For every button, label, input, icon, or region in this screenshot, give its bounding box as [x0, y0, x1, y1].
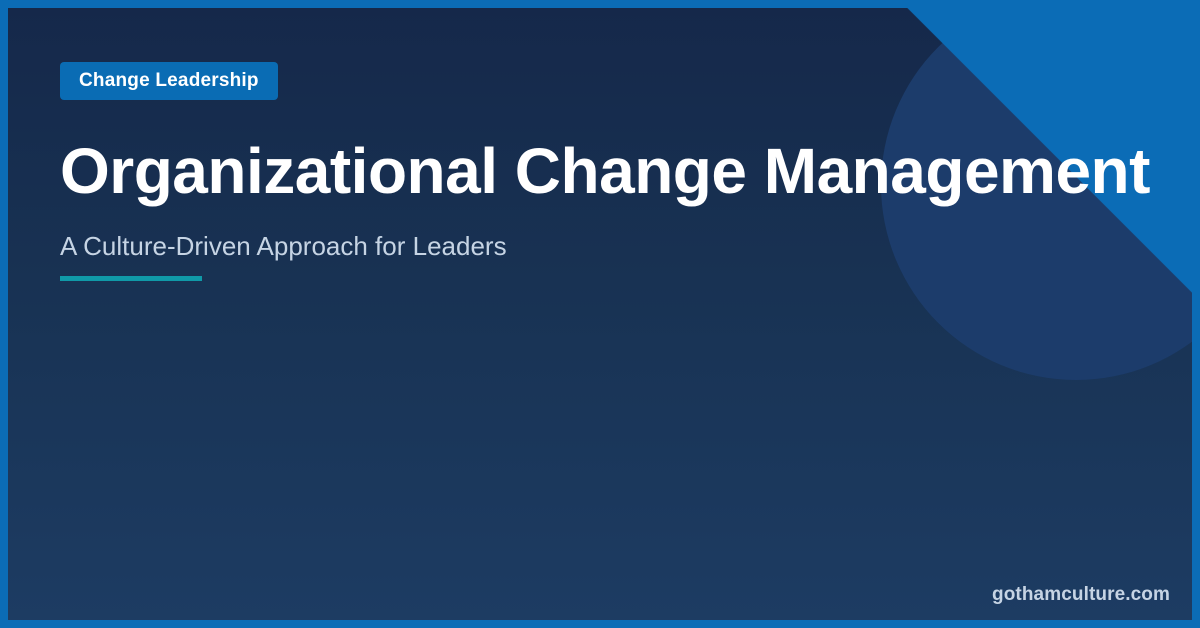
page-title: Organizational Change Management — [60, 138, 1060, 205]
page-subtitle: A Culture-Driven Approach for Leaders — [60, 231, 1060, 262]
teal-accent-bar — [60, 276, 202, 281]
hero-content: Change Leadership Organizational Change … — [60, 62, 1060, 281]
footer-domain-label: gothamculture.com — [992, 584, 1170, 605]
og-card: Change Leadership Organizational Change … — [0, 0, 1200, 628]
category-badge[interactable]: Change Leadership — [60, 62, 278, 100]
footer: gothamculture.com — [992, 584, 1170, 606]
